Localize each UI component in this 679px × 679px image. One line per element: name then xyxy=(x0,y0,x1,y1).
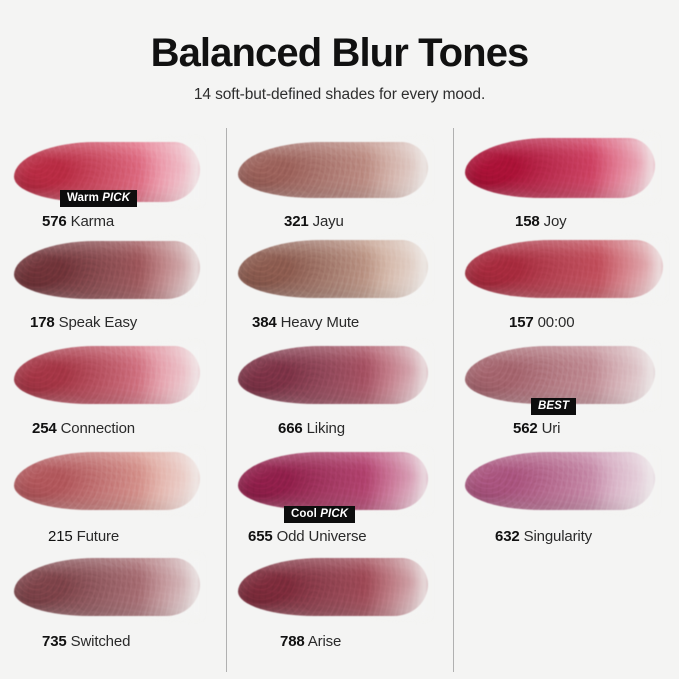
badge-best: BEST xyxy=(531,398,576,415)
shade-label: 735 Switched xyxy=(42,633,130,650)
badge-cool-pick: Cool PICK xyxy=(284,506,355,523)
swatch-pigment xyxy=(238,240,428,298)
lipstick-swatch xyxy=(238,452,428,510)
shade-code: 157 xyxy=(509,314,534,331)
shade-column-2: 321 Jayu384 Heavy Mute666 LikingCool PIC… xyxy=(226,128,453,679)
swatch-pigment xyxy=(14,346,200,404)
badge-prefix: Cool xyxy=(291,508,317,520)
shade-label: 562 Uri xyxy=(513,420,560,437)
shade-label: 632 Singularity xyxy=(495,528,592,545)
lipstick-swatch xyxy=(14,346,200,404)
lipstick-swatch xyxy=(238,240,428,298)
page-header: Balanced Blur Tones 14 soft-but-defined … xyxy=(0,0,679,104)
page-title: Balanced Blur Tones xyxy=(0,32,679,74)
swatch-fade-edge xyxy=(139,239,202,301)
swatch-fade-edge xyxy=(365,450,430,512)
shade-column-1: Warm PICK576 Karma178 Speak Easy254 Conn… xyxy=(0,128,226,679)
swatch-pigment xyxy=(465,138,655,198)
shade-code: 562 xyxy=(513,420,538,437)
shade-label: 158 Joy xyxy=(515,213,567,230)
shade-name: 00:00 xyxy=(534,314,575,331)
shade-code: 655 xyxy=(248,528,273,545)
swatch-pigment xyxy=(14,452,200,510)
lipstick-swatch xyxy=(238,142,428,198)
shade-label: 576 Karma xyxy=(42,213,114,230)
swatch-fade-edge xyxy=(592,450,657,512)
badge-best-text: BEST xyxy=(538,400,569,412)
shade-name: Liking xyxy=(303,420,345,437)
shade-code: 666 xyxy=(278,420,303,437)
shade-label: 321 Jayu xyxy=(284,213,344,230)
shade-name: Odd Universe xyxy=(273,528,367,545)
swatch-fade-edge xyxy=(365,238,430,300)
lipstick-swatch xyxy=(14,558,200,616)
shade-name: Singularity xyxy=(520,528,592,545)
shade-code: 158 xyxy=(515,213,540,230)
swatch-fade-edge xyxy=(365,556,430,618)
lipstick-swatch xyxy=(465,240,663,298)
shade-label: 254 Connection xyxy=(32,420,135,437)
swatch-fade-edge xyxy=(365,140,430,200)
shade-name: Uri xyxy=(538,420,561,437)
lipstick-swatch xyxy=(14,452,200,510)
shade-code: 254 xyxy=(32,420,57,437)
shade-name: Arise xyxy=(305,633,342,650)
shade-label: 157 00:00 xyxy=(509,314,574,331)
lipstick-swatch xyxy=(465,346,655,404)
shade-name: Speak Easy xyxy=(55,314,138,331)
shade-label: 655 Odd Universe xyxy=(248,528,367,545)
shade-label: 384 Heavy Mute xyxy=(252,314,359,331)
swatch-fade-edge xyxy=(592,344,657,406)
lipstick-swatch xyxy=(238,346,428,404)
shade-label: 178 Speak Easy xyxy=(30,314,137,331)
shade-label: 215 Future xyxy=(48,528,119,545)
shade-code: 321 xyxy=(284,213,309,230)
shade-name: Heavy Mute xyxy=(277,314,360,331)
shade-name: Switched xyxy=(67,633,131,650)
shade-name: Future xyxy=(73,528,119,545)
shade-name: Karma xyxy=(67,213,114,230)
badge-warm-pick: Warm PICK xyxy=(60,190,137,207)
swatch-pigment xyxy=(465,240,663,298)
badge-prefix: Warm xyxy=(67,192,99,204)
swatch-pigment xyxy=(465,346,655,404)
badge-pick-text: PICK xyxy=(102,192,130,204)
lipstick-swatch xyxy=(14,241,200,299)
swatch-fade-edge xyxy=(598,238,665,300)
shade-grid: Warm PICK576 Karma178 Speak Easy254 Conn… xyxy=(0,128,679,679)
swatch-fade-edge xyxy=(365,344,430,406)
swatch-pigment xyxy=(14,558,200,616)
shade-name: Connection xyxy=(57,420,135,437)
swatch-fade-edge xyxy=(139,556,202,618)
swatch-pigment xyxy=(238,558,428,616)
lipstick-swatch xyxy=(238,558,428,616)
swatch-pigment xyxy=(14,241,200,299)
swatch-pigment xyxy=(238,452,428,510)
shade-code: 788 xyxy=(280,633,305,650)
shade-code: 632 xyxy=(495,528,520,545)
shade-code: 384 xyxy=(252,314,277,331)
lipstick-swatch xyxy=(465,138,655,198)
shade-code: 178 xyxy=(30,314,55,331)
badge-pick-text: PICK xyxy=(320,508,348,520)
lipstick-swatch xyxy=(465,452,655,510)
swatch-fade-edge xyxy=(139,344,202,406)
shade-name: Joy xyxy=(540,213,567,230)
swatch-fade-edge xyxy=(592,136,657,200)
swatch-pigment xyxy=(465,452,655,510)
shade-code: 215 xyxy=(48,528,73,545)
swatch-fade-edge xyxy=(139,450,202,512)
shade-code: 576 xyxy=(42,213,67,230)
shade-column-3: 158 Joy157 00:00BEST562 Uri632 Singulari… xyxy=(453,128,679,679)
page-subtitle: 14 soft-but-defined shades for every moo… xyxy=(0,86,679,104)
shade-label: 666 Liking xyxy=(278,420,345,437)
swatch-fade-edge xyxy=(139,140,202,204)
swatch-pigment xyxy=(238,142,428,198)
shade-label: 788 Arise xyxy=(280,633,341,650)
shade-code: 735 xyxy=(42,633,67,650)
shade-name: Jayu xyxy=(309,213,344,230)
swatch-pigment xyxy=(238,346,428,404)
